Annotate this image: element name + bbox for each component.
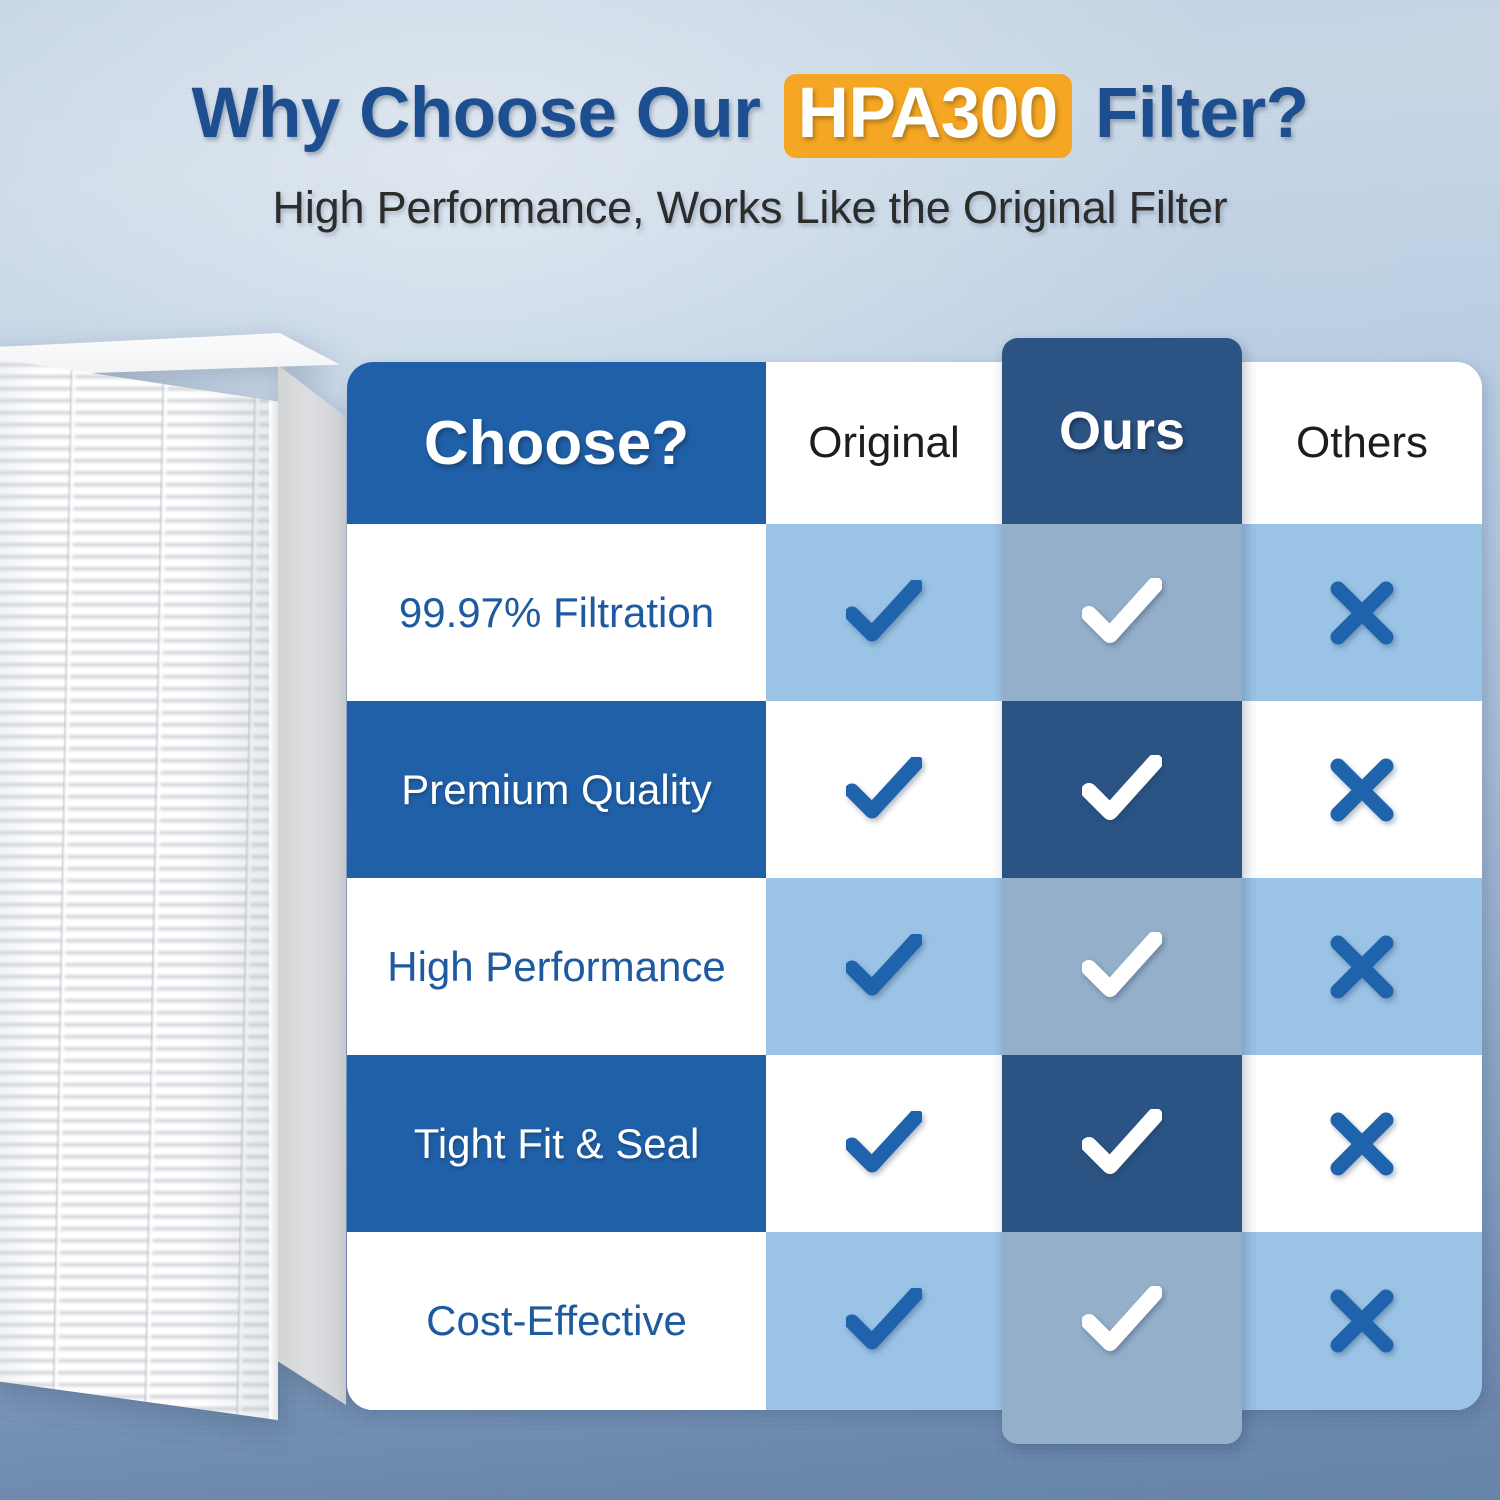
column-header-ours: Ours bbox=[1002, 338, 1242, 524]
table-header-row: Choose? Original Others bbox=[347, 362, 1482, 524]
cross-icon bbox=[1328, 1110, 1396, 1178]
title-suffix: Filter? bbox=[1095, 74, 1308, 153]
cell-original bbox=[766, 701, 1002, 878]
column-header-others: Others bbox=[1242, 362, 1482, 524]
feature-label: High Performance bbox=[347, 878, 766, 1055]
filter-right-frame bbox=[269, 357, 278, 1420]
check-icon bbox=[846, 757, 922, 823]
check-icon bbox=[1082, 755, 1162, 825]
filter-shading bbox=[0, 357, 278, 1420]
table-row: 99.97% Filtration bbox=[347, 524, 1482, 701]
check-icon bbox=[1082, 1286, 1162, 1356]
check-icon bbox=[1082, 578, 1162, 648]
cell-others bbox=[1242, 1232, 1482, 1410]
feature-label: Tight Fit & Seal bbox=[347, 1055, 766, 1232]
cross-icon bbox=[1328, 756, 1396, 824]
cell-original bbox=[766, 524, 1002, 701]
cell-ours-row1 bbox=[1002, 524, 1242, 701]
page-title: Why Choose Our HPA300 Filter? bbox=[0, 74, 1500, 158]
cell-others bbox=[1242, 524, 1482, 701]
cell-ours-row3 bbox=[1002, 878, 1242, 1055]
cross-icon bbox=[1328, 933, 1396, 1001]
hepa-filter-product-image bbox=[0, 333, 346, 1423]
page-subtitle: High Performance, Works Like the Origina… bbox=[0, 182, 1500, 234]
feature-label: Cost-Effective bbox=[347, 1232, 766, 1410]
comparison-table: Choose? Original Others 99.97% Filtratio… bbox=[347, 362, 1482, 1410]
filter-side-face bbox=[278, 365, 346, 1405]
cross-icon bbox=[1328, 1287, 1396, 1355]
title-prefix: Why Choose Our bbox=[192, 74, 761, 153]
cell-ours-row5 bbox=[1002, 1232, 1242, 1409]
feature-label: 99.97% Filtration bbox=[347, 524, 766, 701]
cell-ours-row4 bbox=[1002, 1055, 1242, 1232]
cross-icon bbox=[1328, 579, 1396, 647]
cell-others bbox=[1242, 1055, 1482, 1232]
check-icon bbox=[1082, 1109, 1162, 1179]
check-icon bbox=[846, 1111, 922, 1177]
header-block: Why Choose Our HPA300 Filter? High Perfo… bbox=[0, 74, 1500, 234]
model-badge: HPA300 bbox=[784, 74, 1072, 158]
feature-label: Premium Quality bbox=[347, 701, 766, 878]
table-row: Tight Fit & Seal bbox=[347, 1055, 1482, 1232]
cell-original bbox=[766, 878, 1002, 1055]
cell-others bbox=[1242, 701, 1482, 878]
cell-others bbox=[1242, 878, 1482, 1055]
table-row: Premium Quality bbox=[347, 701, 1482, 878]
table-row: High Performance bbox=[347, 878, 1482, 1055]
check-icon bbox=[846, 580, 922, 646]
table-row: Cost-Effective bbox=[347, 1232, 1482, 1410]
check-icon bbox=[846, 1288, 922, 1354]
cell-ours-row2 bbox=[1002, 701, 1242, 878]
cell-original bbox=[766, 1232, 1002, 1410]
check-icon bbox=[846, 934, 922, 1000]
filter-front-face bbox=[0, 357, 278, 1420]
ours-highlight-column: Ours bbox=[1002, 338, 1242, 1444]
check-icon bbox=[1082, 932, 1162, 1002]
cell-original bbox=[766, 1055, 1002, 1232]
column-header-original: Original bbox=[766, 362, 1002, 524]
column-header-feature: Choose? bbox=[347, 362, 766, 524]
